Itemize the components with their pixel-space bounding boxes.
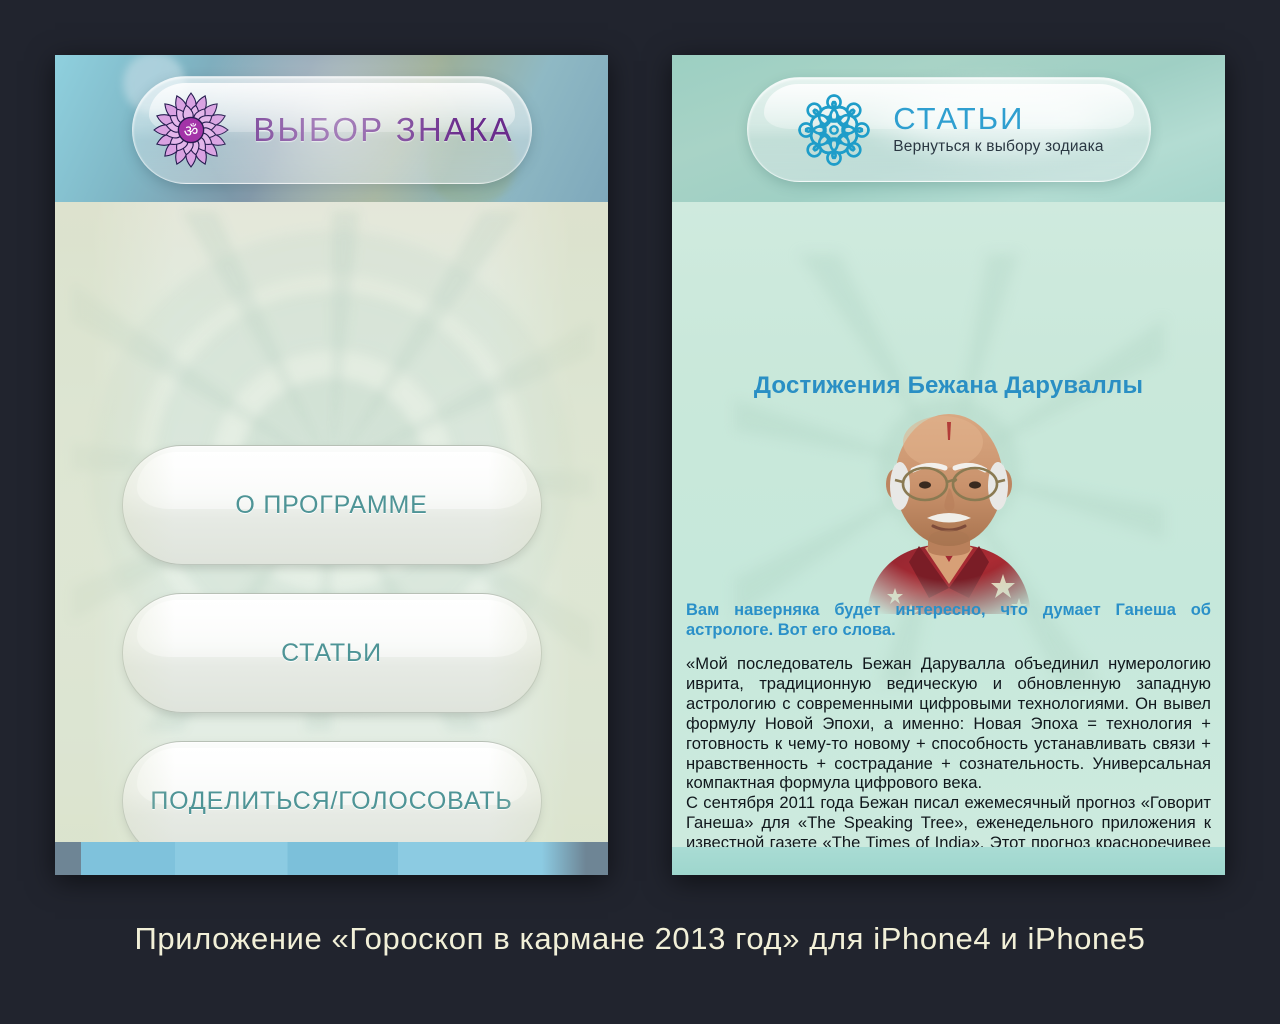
- right-header-title: СТАТЬИ: [893, 103, 1103, 136]
- screenshot-stage: ॐ ВЫБОР ЗНАКА О ПРОГРАММЕ СТАТЬИ ПОДЕЛИТ…: [0, 0, 1280, 1024]
- right-phone-screen: СТАТЬИ Вернуться к выбору зодиака Достиж…: [672, 55, 1225, 875]
- menu-button-articles[interactable]: СТАТЬИ: [122, 593, 542, 713]
- article-intro-paragraph: Вам наверняка будет интересно, что думае…: [686, 600, 1211, 640]
- right-header-background: СТАТЬИ Вернуться к выбору зодиака: [672, 55, 1225, 202]
- left-header-background: ॐ ВЫБОР ЗНАКА: [55, 55, 608, 202]
- left-footer-bar: [55, 842, 608, 875]
- portrait-bejan-daruwalla: [833, 398, 1065, 614]
- article-title: Достижения Бежана Даруваллы: [672, 372, 1225, 400]
- right-header-text-block: СТАТЬИ Вернуться к выбору зодиака: [893, 103, 1103, 157]
- article-paragraph-1: «Мой последователь Бежан Дарувалла объед…: [686, 654, 1211, 793]
- menu-button-share-vote-label: ПОДЕЛИТЬСЯ/ГОЛОСОВАТЬ: [150, 787, 512, 816]
- article-content-area[interactable]: Достижения Бежана Даруваллы: [672, 202, 1225, 847]
- article-body: «Мой последователь Бежан Дарувалла объед…: [686, 654, 1211, 847]
- svg-text:ॐ: ॐ: [184, 122, 199, 141]
- menu-button-share-vote[interactable]: ПОДЕЛИТЬСЯ/ГОЛОСОВАТЬ: [122, 741, 542, 842]
- article-paragraph-2: С сентября 2011 года Бежан писал ежемеся…: [686, 793, 1211, 847]
- left-header-title: ВЫБОР ЗНАКА: [253, 111, 514, 149]
- mandala-ornament-icon: [793, 89, 875, 171]
- menu-button-about-label: О ПРОГРАММЕ: [235, 491, 427, 520]
- articles-header-button[interactable]: СТАТЬИ Вернуться к выбору зодиака: [747, 77, 1151, 182]
- right-footer-bar: [672, 847, 1225, 875]
- back-to-zodiac-link[interactable]: Вернуться к выбору зодиака: [893, 138, 1103, 156]
- page-caption: Приложение «Гороскоп в кармане 2013 год»…: [0, 921, 1280, 957]
- menu-button-articles-label: СТАТЬИ: [281, 639, 382, 668]
- left-menu-area: О ПРОГРАММЕ СТАТЬИ ПОДЕЛИТЬСЯ/ГОЛОСОВАТЬ…: [55, 202, 608, 842]
- sign-selection-header-button[interactable]: ॐ ВЫБОР ЗНАКА: [132, 76, 532, 184]
- menu-button-about[interactable]: О ПРОГРАММЕ: [122, 445, 542, 565]
- left-phone-screen: ॐ ВЫБОР ЗНАКА О ПРОГРАММЕ СТАТЬИ ПОДЕЛИТ…: [55, 55, 608, 875]
- om-chakra-icon: ॐ: [149, 88, 233, 172]
